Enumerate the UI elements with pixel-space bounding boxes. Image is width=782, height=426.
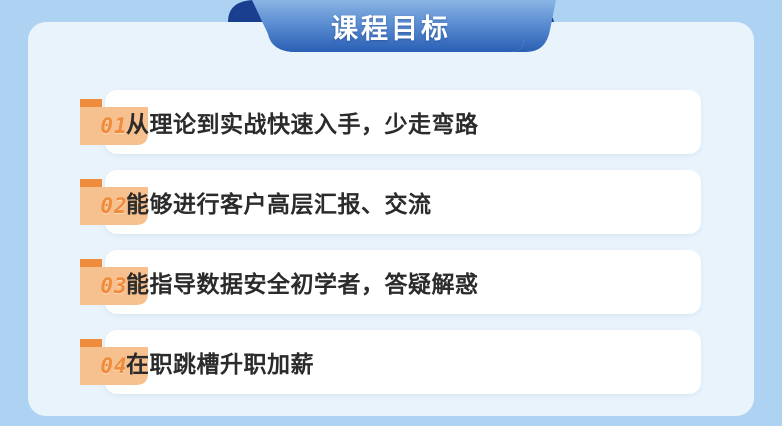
goal-list: 01 从理论到实战快速入手，少走弯路 02 能够进行客户高层汇报、交流 (28, 90, 754, 410)
goal-row[interactable]: 02 能够进行客户高层汇报、交流 (28, 170, 754, 234)
header-ribbon: 课程目标 (0, 0, 782, 58)
goal-text: 能指导数据安全初学者，答疑解惑 (126, 250, 479, 314)
content-panel: 01 从理论到实战快速入手，少走弯路 02 能够进行客户高层汇报、交流 (28, 22, 754, 416)
goal-row[interactable]: 01 从理论到实战快速入手，少走弯路 (28, 90, 754, 154)
goal-text: 能够进行客户高层汇报、交流 (126, 170, 432, 234)
goal-row[interactable]: 03 能指导数据安全初学者，答疑解惑 (28, 250, 754, 314)
goal-row[interactable]: 04 在职跳槽升职加薪 (28, 330, 754, 394)
slide-root: 01 从理论到实战快速入手，少走弯路 02 能够进行客户高层汇报、交流 (0, 0, 782, 426)
goal-text: 从理论到实战快速入手，少走弯路 (126, 90, 479, 154)
goal-text: 在职跳槽升职加薪 (126, 330, 314, 394)
page-title: 课程目标 (0, 0, 782, 52)
